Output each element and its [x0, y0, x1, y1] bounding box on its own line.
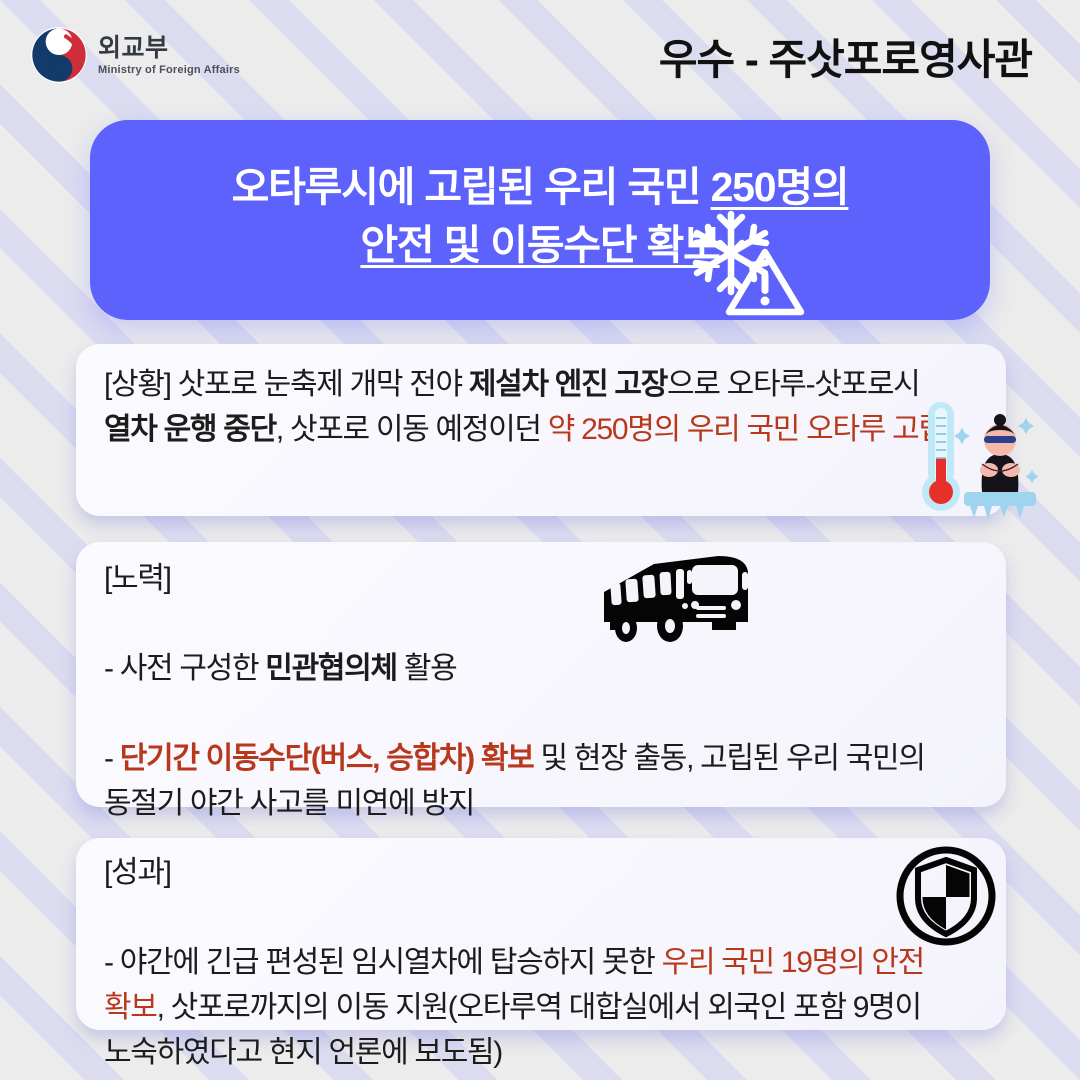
result-bullet-1: - 야간에 긴급 편성된 임시열차에 탑승하지 못한 우리 국민 19명의 안전… [104, 895, 978, 1075]
infographic-page: 외교부 Ministry of Foreign Affairs 우수 - 주삿포… [0, 0, 1080, 1080]
situation-seg-2: 으로 오타루-삿포로시 [667, 368, 919, 401]
situation-seg-5: 약 250명의 우리 국민 오타루 고립 [548, 413, 945, 446]
effort-seg-4: - [104, 742, 120, 775]
situation-seg-4: , 삿포로 이동 예정이던 [276, 413, 548, 446]
ministry-name-ko: 외교부 [98, 35, 240, 61]
result-seg-3: , 삿포로까지의 이동 지원(오타루역 대합실에서 외국인 포함 9명이 노숙하… [104, 991, 928, 1069]
page-header: 외교부 Ministry of Foreign Affairs 우수 - 주삿포… [0, 0, 1080, 110]
title-banner: 오타루시에 고립된 우리 국민 250명의 안전 및 이동수단 확보 [90, 120, 990, 320]
card-situation: [상황] 삿포로 눈축제 개막 전야 제설차 엔진 고장으로 오타루-삿포로시 … [76, 344, 1006, 516]
title-banner-text: 오타루시에 고립된 우리 국민 250명의 안전 및 이동수단 확보 [90, 158, 990, 274]
ice-block-shape [964, 492, 1036, 520]
effort-seg-1: - 사전 구성한 [104, 652, 265, 685]
card-effort: [노력] - 사전 구성한 민관협의체 활용 - 단기간 이동수단(버스, 승합… [76, 542, 1006, 807]
ministry-name-en: Ministry of Foreign Affairs [98, 63, 240, 77]
ministry-logo-block: 외교부 Ministry of Foreign Affairs [30, 26, 240, 84]
title-line1-plain: 오타루시에 고립된 우리 국민 [232, 164, 711, 210]
card-result: [성과] - 야간에 긴급 편성된 임시열차에 탑승하지 못한 우리 국민 19… [76, 838, 1006, 1030]
page-title: 우수 - 주삿포로영사관 [659, 26, 1032, 87]
effort-bullet-2: - 단기간 이동수단(버스, 승합차) 확보 및 현장 출동, 고립된 우리 국… [104, 691, 978, 826]
card-effort-text: [노력] - 사전 구성한 민관협의체 활용 - 단기간 이동수단(버스, 승합… [76, 542, 1006, 826]
effort-seg-2: 민관협의체 [265, 652, 397, 685]
snowflake-warning-icon-group [687, 208, 805, 316]
result-seg-1: - 야간에 긴급 편성된 임시열차에 탑승하지 못한 [104, 946, 662, 979]
card-result-text: [성과] - 야간에 긴급 편성된 임시열차에 탑승하지 못한 우리 국민 19… [76, 838, 1006, 1075]
card-situation-text: [상황] 삿포로 눈축제 개막 전야 제설차 엔진 고장으로 오타루-삿포로시 … [76, 344, 1006, 452]
snowflake-icon [696, 214, 766, 292]
title-line1-underlined: 250명의 [711, 164, 849, 210]
korea-mofa-taegeuk-logo-icon [30, 26, 88, 84]
situation-seg-0: [상황] 삿포로 눈축제 개막 전야 [104, 368, 469, 401]
ministry-logo-text: 외교부 Ministry of Foreign Affairs [98, 33, 240, 78]
effort-bullet-1: - 사전 구성한 민관협의체 활용 [104, 601, 978, 691]
effort-label: [노력] [104, 556, 978, 601]
title-line2-underlined: 안전 및 이동수단 확보 [360, 222, 719, 268]
situation-seg-3: 열차 운행 중단 [104, 413, 276, 446]
effort-seg-3: 활용 [397, 652, 457, 685]
situation-seg-1: 제설차 엔진 고장 [469, 368, 667, 401]
shield-security-icon [894, 844, 998, 948]
bus-icon [596, 548, 771, 658]
result-label: [성과] [104, 850, 978, 895]
effort-seg-5: 단기간 이동수단(버스, 승합차) 확보 [120, 742, 534, 775]
